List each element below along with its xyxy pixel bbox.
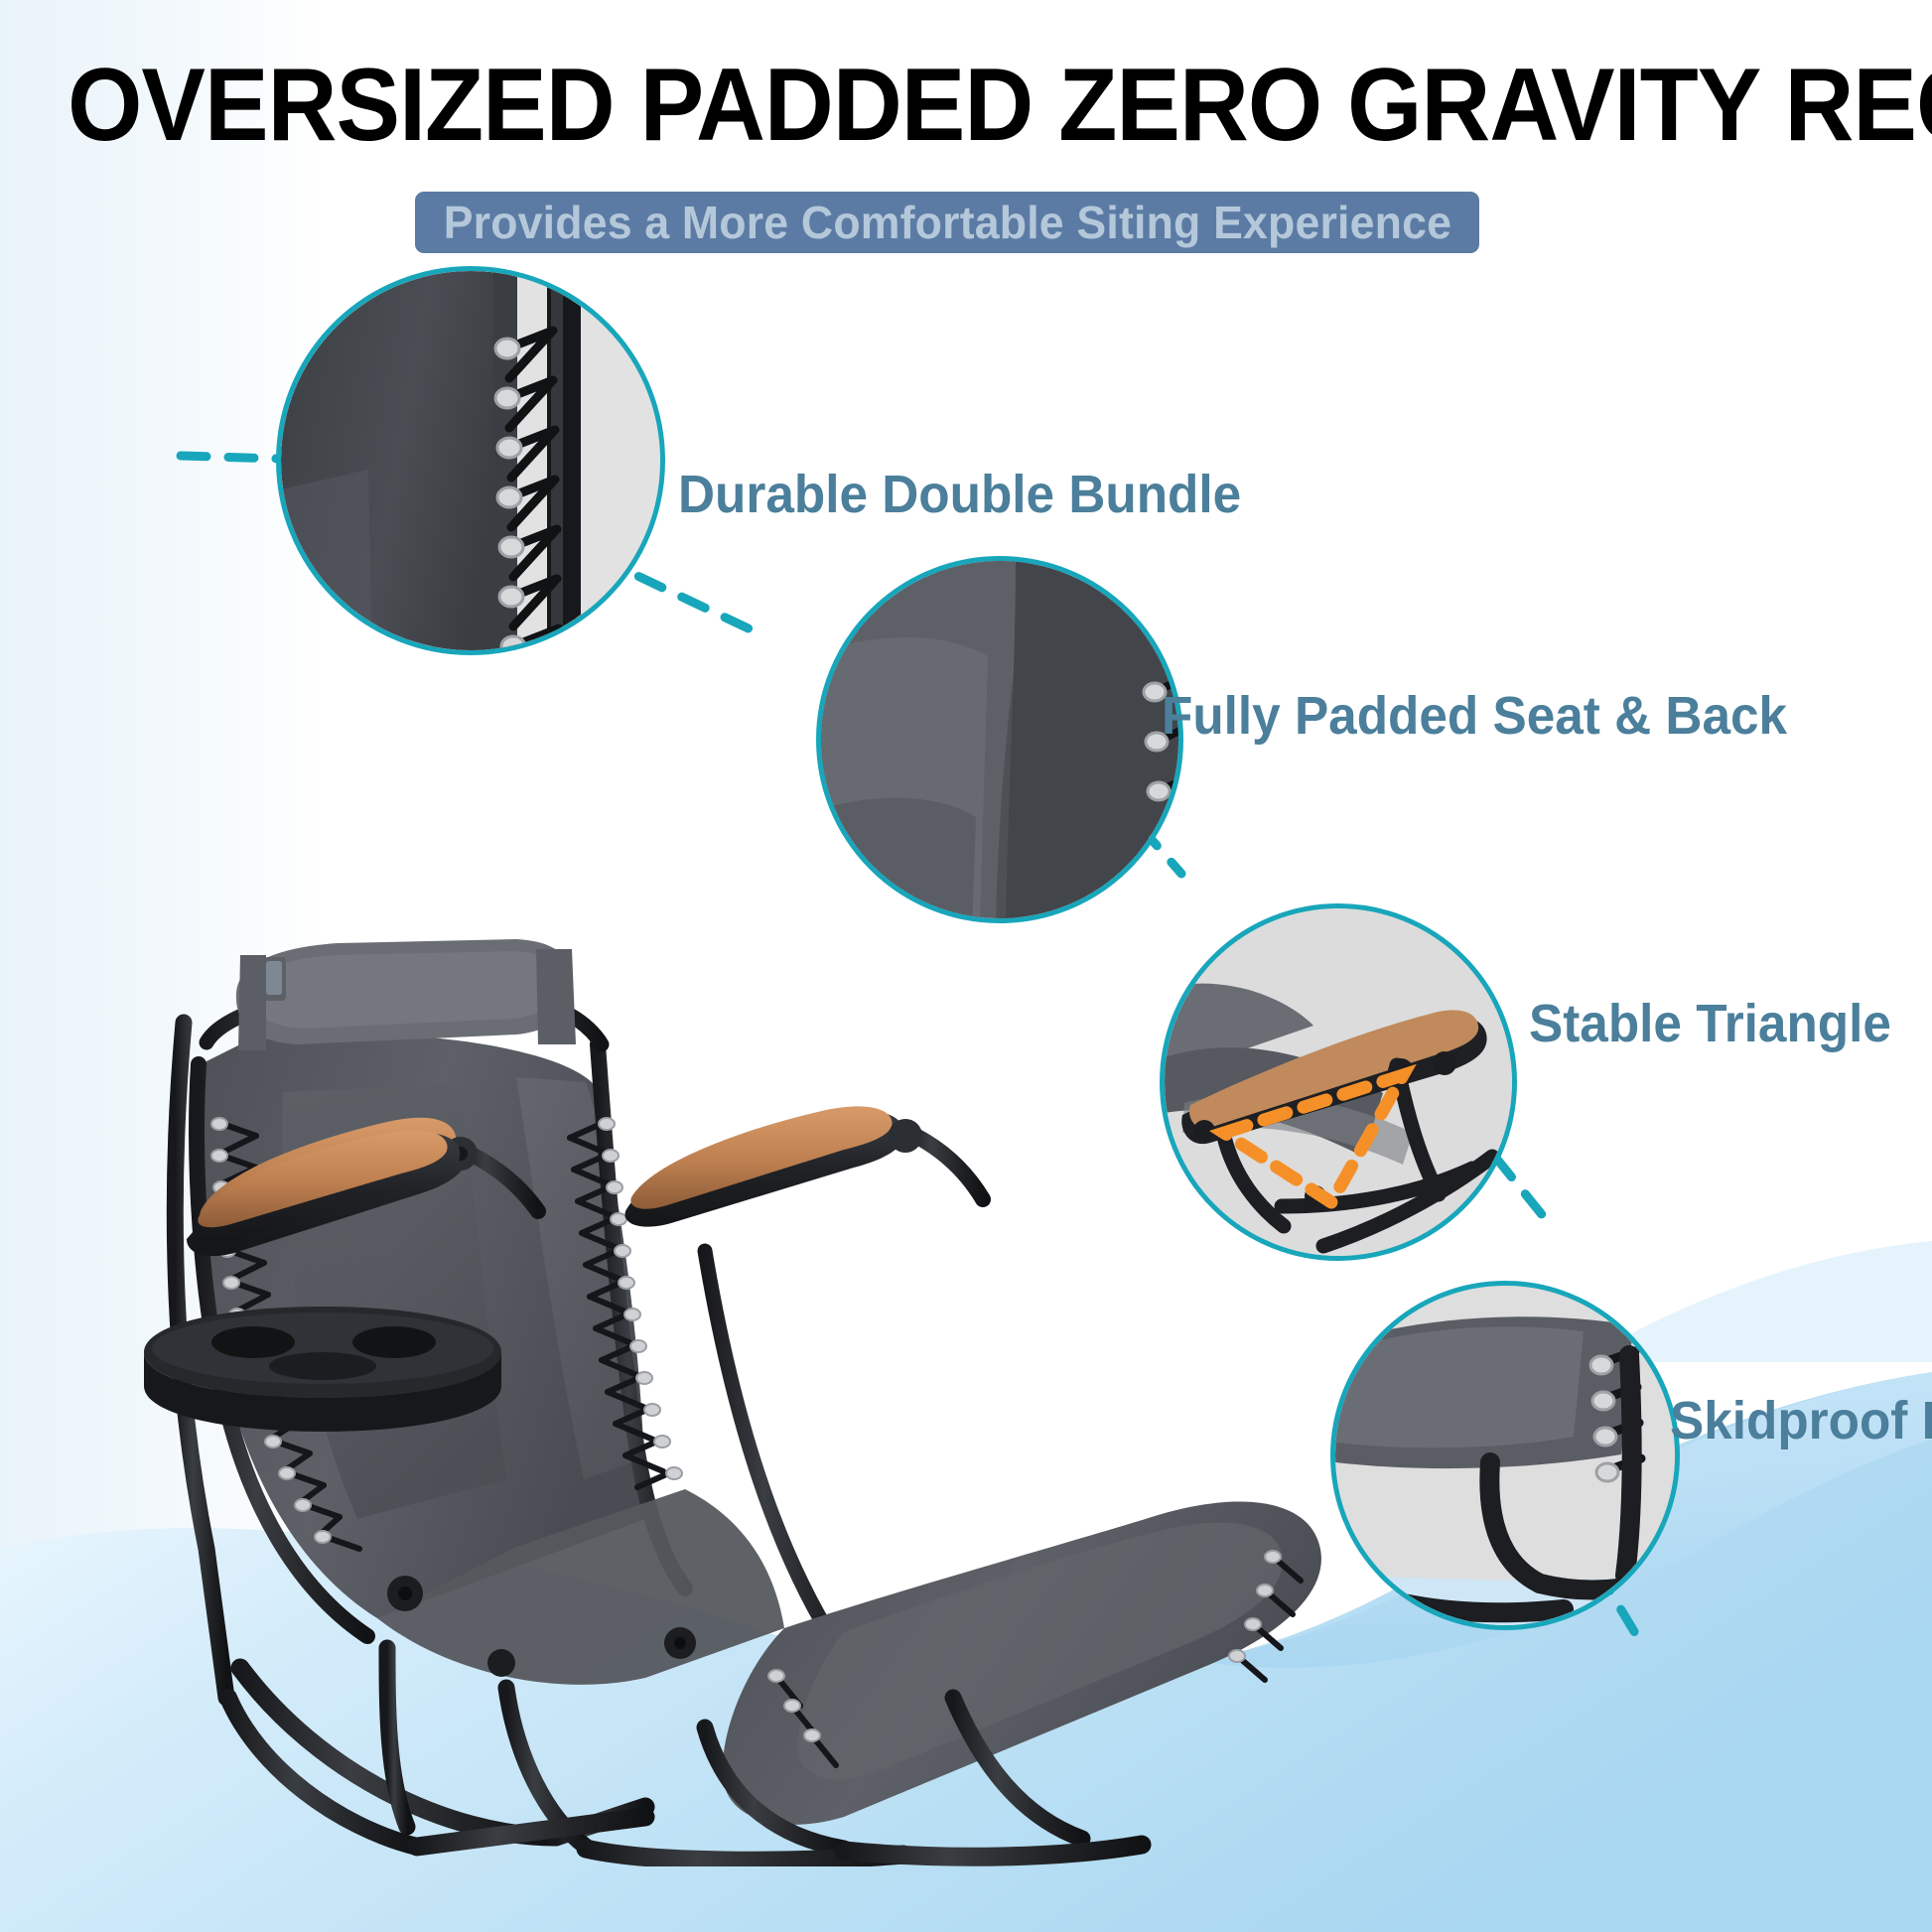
callout-label-skidproof-frame: Skidproof Frame	[1670, 1390, 1932, 1451]
side-tray-cup-holder	[144, 1307, 501, 1432]
infographic-canvas: OVERSIZED PADDED ZERO GRAVITY RECLINER P…	[0, 0, 1932, 1932]
callout-circle-fully-padded-seat-back	[816, 556, 1183, 923]
subtitle-text: Provides a More Comfortable Siting Exper…	[443, 196, 1450, 249]
right-armrest	[625, 1106, 983, 1226]
subtitle-banner: Provides a More Comfortable Siting Exper…	[415, 192, 1479, 253]
callout-circle-stable-triangle	[1160, 903, 1517, 1261]
product-image-zero-gravity-recliner	[89, 695, 1410, 1866]
callout-label-durable-double-bundle: Durable Double Bundle	[678, 464, 1241, 525]
page-title: OVERSIZED PADDED ZERO GRAVITY RECLINER	[68, 52, 1864, 160]
headrest-pillow	[236, 939, 576, 1050]
callout-circle-skidproof-frame	[1330, 1281, 1680, 1630]
callout-circle-durable-double-bundle	[276, 266, 665, 655]
callout-label-fully-padded-seat-back: Fully Padded Seat & Back	[1162, 685, 1787, 747]
callout-label-stable-triangle: Stable Triangle	[1529, 993, 1891, 1054]
